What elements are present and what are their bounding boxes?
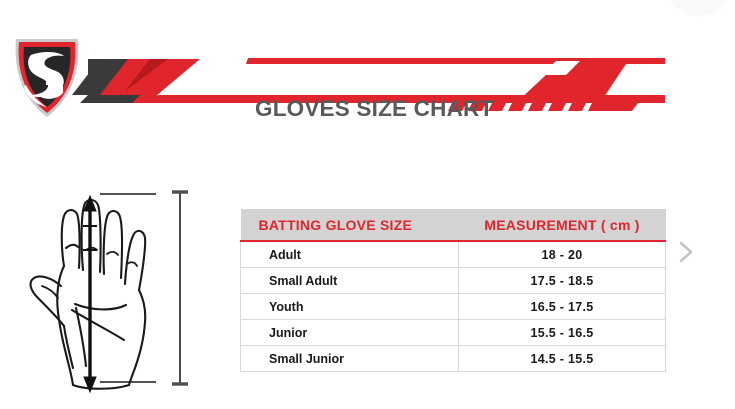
table-row: Small Junior 14.5 - 15.5 [241, 346, 666, 372]
table-header-row: BATTING GLOVE SIZE MEASUREMENT ( cm ) [241, 209, 666, 241]
measurement-bracket [172, 192, 188, 384]
table-row: Youth 16.5 - 17.5 [241, 294, 666, 320]
cell-size: Small Junior [241, 346, 459, 372]
cell-measurement: 18 - 20 [459, 241, 666, 268]
table-row: Adult 18 - 20 [241, 241, 666, 268]
table-row: Junior 15.5 - 16.5 [241, 320, 666, 346]
hand-measurement-diagram [28, 178, 218, 396]
column-header-measurement: MEASUREMENT ( cm ) [459, 209, 666, 241]
corner-decoration [671, 0, 727, 14]
column-header-size: BATTING GLOVE SIZE [241, 209, 459, 241]
cell-measurement: 16.5 - 17.5 [459, 294, 666, 320]
banner-dash-tail [598, 103, 638, 111]
cell-size: Small Adult [241, 268, 459, 294]
chevron-right-icon[interactable] [676, 238, 698, 266]
table-row: Small Adult 17.5 - 18.5 [241, 268, 666, 294]
next-slide-button[interactable] [676, 238, 698, 266]
cell-size: Adult [241, 241, 459, 268]
cell-measurement: 15.5 - 16.5 [459, 320, 666, 346]
cell-measurement: 14.5 - 15.5 [459, 346, 666, 372]
cell-measurement: 17.5 - 18.5 [459, 268, 666, 294]
hand-outline-svg [28, 178, 218, 396]
reference-rules [100, 194, 156, 382]
cell-size: Youth [241, 294, 459, 320]
gloves-size-table: BATTING GLOVE SIZE MEASUREMENT ( cm ) Ad… [240, 209, 666, 372]
page-title: GLOVES SIZE CHART [255, 96, 595, 122]
banner: GLOVES SIZE CHART [0, 33, 665, 121]
cell-size: Junior [241, 320, 459, 346]
banner-charcoal-foot [80, 95, 140, 103]
sg-shield-logo [16, 39, 79, 117]
